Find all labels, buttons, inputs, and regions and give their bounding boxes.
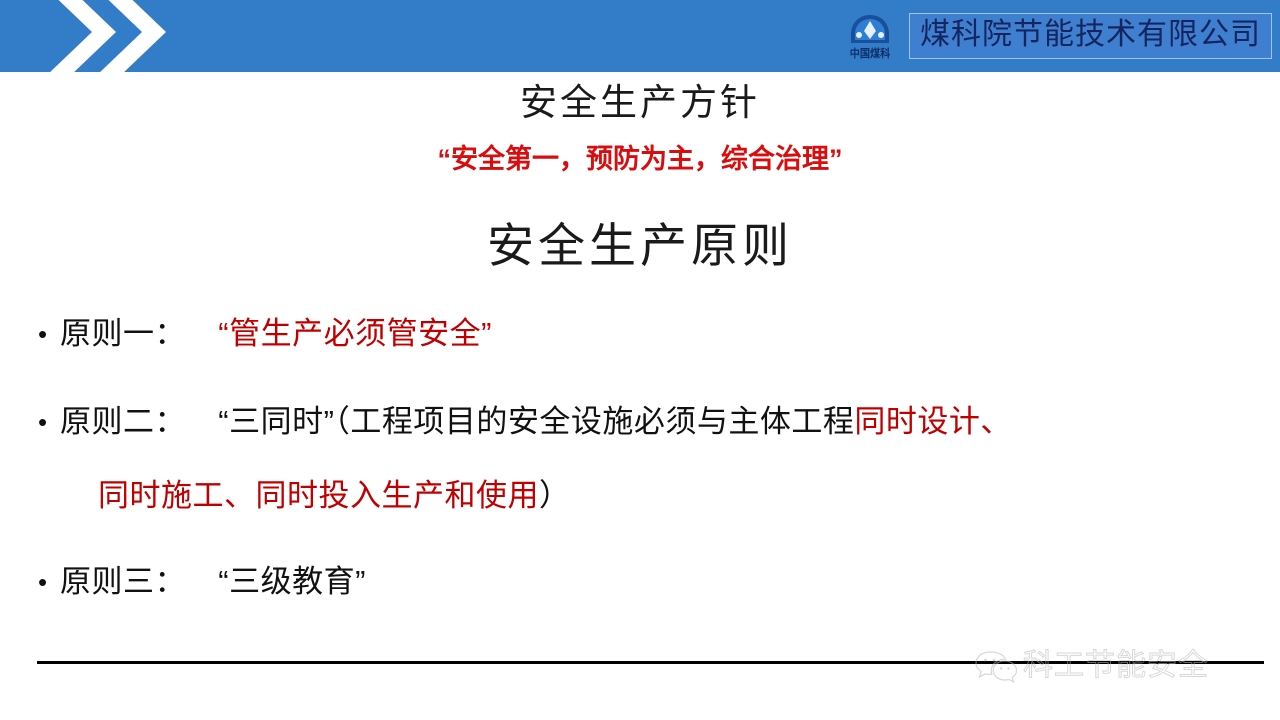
principle-two-continuation: 同时施工、同时投入生产和使用） (38, 474, 1253, 518)
principle-two-label: 原则二： (60, 404, 186, 439)
bullet-glyph: • (38, 312, 60, 356)
principle-two-quote-open: “ (218, 404, 229, 439)
bullet-glyph: • (38, 400, 60, 444)
zhongguo-meike-logo-icon (847, 13, 893, 47)
principle-two-quote-close: ” (324, 404, 335, 439)
principle-three-quote: 三级教育 (229, 564, 355, 599)
principle-two-paren-open: （ (334, 404, 350, 439)
principle-one-label: 原则一： (60, 316, 186, 351)
double-chevron-right-icon (40, 0, 170, 76)
principle-three-quote-close: ” (355, 564, 366, 599)
list-item: • 原则二： “三同时”（工程项目的安全设施必须与主体工程同时设计、 (38, 400, 1253, 444)
wechat-icon (975, 649, 1017, 683)
watermark-text: 科工节能安全 (1023, 649, 1209, 683)
list-item: • 原则三： “三级教育” (38, 560, 1253, 604)
slide-canvas: 中国煤科 煤科院节能技术有限公司 安全生产方针 “安全第一，预防为主，综合治理”… (0, 0, 1280, 720)
company-name: 煤科院节能技术有限公司 (920, 18, 1261, 52)
principle-one-quote-open: “ (218, 316, 229, 351)
principle-three-quote-open: “ (218, 564, 229, 599)
company-name-box: 煤科院节能技术有限公司 (909, 13, 1272, 59)
principle-two-quote: 三同时 (229, 404, 324, 439)
header-band: 中国煤科 煤科院节能技术有限公司 (0, 0, 1280, 72)
watermark: 科工节能安全 (975, 640, 1275, 692)
principle-one-quote: 管生产必须管安全 (229, 316, 481, 351)
principle-one-text: 原则一： “管生产必须管安全” (60, 312, 1253, 356)
principle-two-text: 原则二： “三同时”（工程项目的安全设施必须与主体工程同时设计、 (60, 400, 1253, 444)
principle-two-red-line1: 同时设计、 (854, 404, 1012, 439)
policy-heading: 安全生产方针 (0, 82, 1280, 126)
principle-two-black-body: 工程项目的安全设施必须与主体工程 (350, 404, 854, 439)
principle-three-text: 原则三： “三级教育” (60, 560, 1253, 604)
principles-list: • 原则一： “管生产必须管安全” • 原则二： “三同时”（工程项目的安全设施… (38, 312, 1253, 604)
policy-slogan: “安全第一，预防为主，综合治理” (0, 142, 1280, 176)
principle-two-paren-close: ） (539, 478, 571, 513)
principle-one-quote-close: ” (481, 316, 492, 351)
logo-caption: 中国煤科 (850, 48, 890, 60)
list-item: • 原则一： “管生产必须管安全” (38, 312, 1253, 356)
company-logo: 中国煤科 (839, 8, 901, 64)
brand-block: 中国煤科 煤科院节能技术有限公司 (839, 0, 1272, 72)
principles-heading: 安全生产原则 (0, 218, 1280, 276)
bullet-glyph: • (38, 560, 60, 604)
principle-two-red-line2: 同时施工、同时投入生产和使用 (98, 478, 539, 513)
principle-three-label: 原则三： (60, 564, 186, 599)
